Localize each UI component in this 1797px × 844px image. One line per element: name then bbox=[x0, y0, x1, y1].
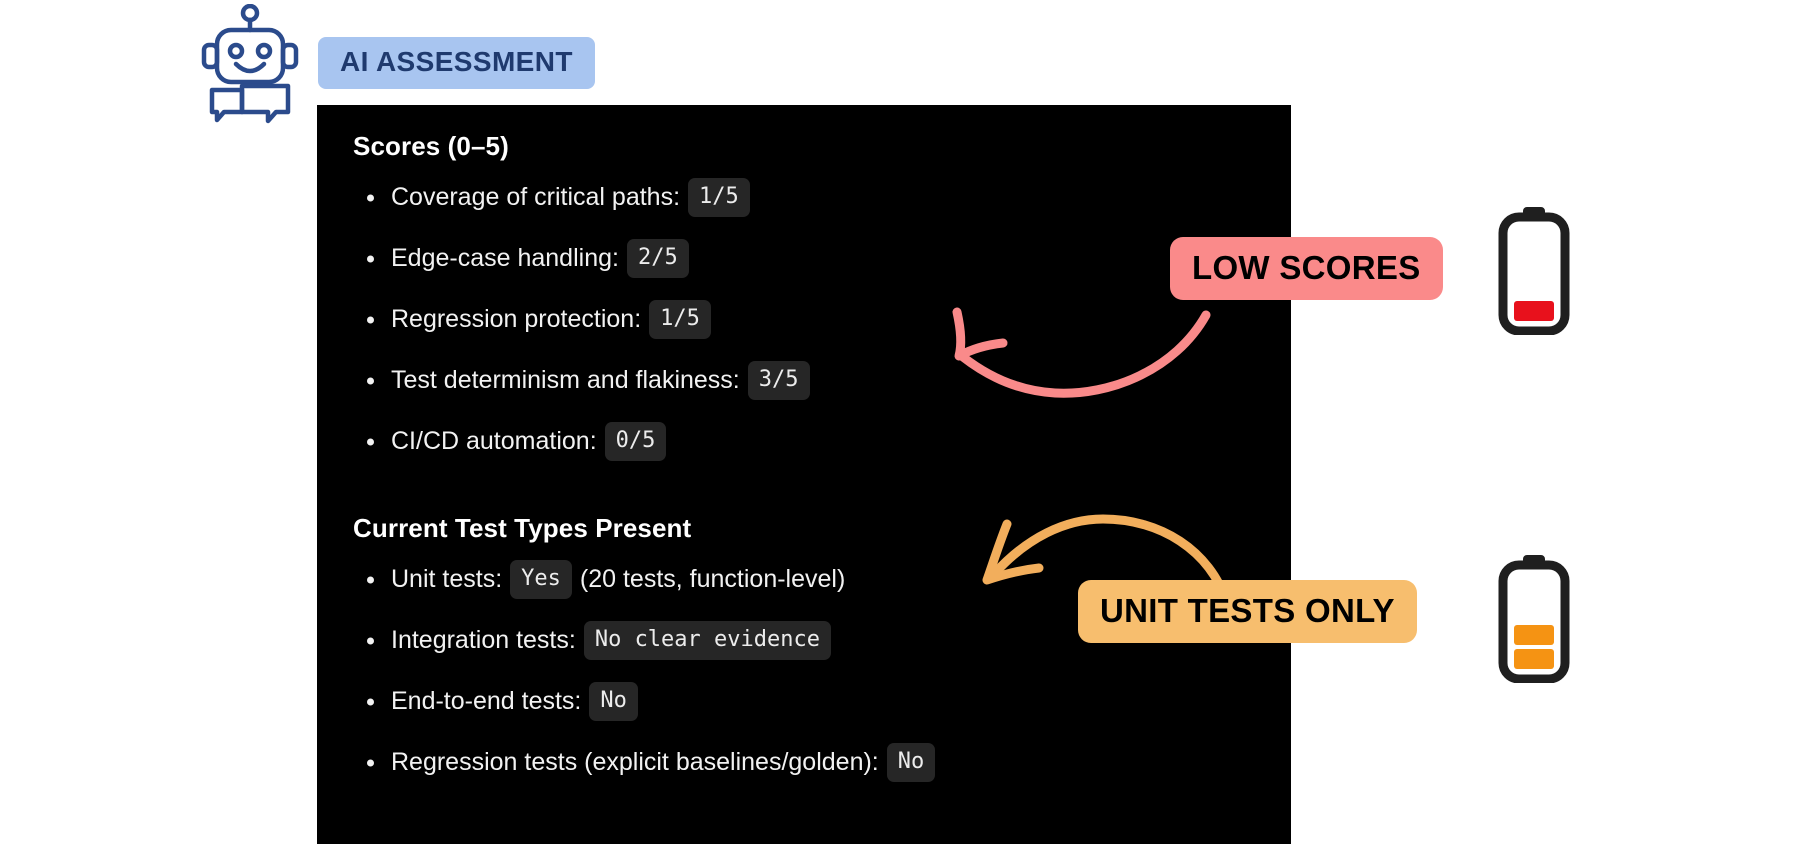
score-label: Test determinism and flakiness: bbox=[391, 368, 740, 393]
bullet-icon bbox=[367, 576, 374, 583]
score-value-chip: 2/5 bbox=[627, 239, 689, 278]
score-value-chip: 3/5 bbox=[748, 361, 810, 400]
test-type-value-chip: Yes bbox=[510, 560, 572, 599]
bullet-icon bbox=[367, 759, 374, 766]
bullet-icon bbox=[367, 194, 374, 201]
battery-low-icon bbox=[1497, 205, 1571, 335]
score-label: Regression protection: bbox=[391, 307, 641, 332]
test-type-label: Regression tests (explicit baselines/gol… bbox=[391, 750, 879, 775]
robot-icon bbox=[196, 4, 304, 124]
score-value-chip: 1/5 bbox=[688, 178, 750, 217]
test-type-value-chip: No bbox=[887, 743, 936, 782]
score-value-chip: 1/5 bbox=[649, 300, 711, 339]
bullet-icon bbox=[367, 255, 374, 262]
callout-unit-tests-only: UNIT TESTS ONLY bbox=[1078, 580, 1417, 643]
list-item: Coverage of critical paths: 1/5 bbox=[353, 178, 1255, 217]
list-item: CI/CD automation: 0/5 bbox=[353, 422, 1255, 461]
test-type-value-chip: No clear evidence bbox=[584, 621, 831, 660]
list-item: Regression protection: 1/5 bbox=[353, 300, 1255, 339]
list-item: End-to-end tests: No bbox=[353, 682, 1255, 721]
battery-medium-icon bbox=[1497, 553, 1571, 683]
bullet-icon bbox=[367, 637, 374, 644]
test-type-label: Unit tests: bbox=[391, 567, 502, 592]
score-label: Coverage of critical paths: bbox=[391, 185, 680, 210]
scores-list: Coverage of critical paths: 1/5 Edge-cas… bbox=[353, 178, 1255, 461]
test-type-label: Integration tests: bbox=[391, 628, 576, 653]
test-type-note: (20 tests, function-level) bbox=[580, 567, 845, 592]
scores-heading: Scores (0–5) bbox=[353, 131, 1255, 162]
bullet-icon bbox=[367, 698, 374, 705]
assessment-slide: AI ASSESSMENT Scores (0–5) Coverage of c… bbox=[0, 0, 1797, 844]
test-type-label: End-to-end tests: bbox=[391, 689, 581, 714]
assessment-panel: Scores (0–5) Coverage of critical paths:… bbox=[317, 105, 1291, 844]
score-label: CI/CD automation: bbox=[391, 429, 597, 454]
test-types-heading: Current Test Types Present bbox=[353, 513, 1255, 544]
list-item: Test determinism and flakiness: 3/5 bbox=[353, 361, 1255, 400]
bullet-icon bbox=[367, 377, 374, 384]
bullet-icon bbox=[367, 438, 374, 445]
list-item: Regression tests (explicit baselines/gol… bbox=[353, 743, 1255, 782]
list-item: Edge-case handling: 2/5 bbox=[353, 239, 1255, 278]
callout-low-scores: LOW SCORES bbox=[1170, 237, 1443, 300]
score-value-chip: 0/5 bbox=[605, 422, 667, 461]
ai-assessment-badge: AI ASSESSMENT bbox=[318, 37, 595, 89]
test-type-value-chip: No bbox=[589, 682, 638, 721]
score-label: Edge-case handling: bbox=[391, 246, 619, 271]
bullet-icon bbox=[367, 316, 374, 323]
